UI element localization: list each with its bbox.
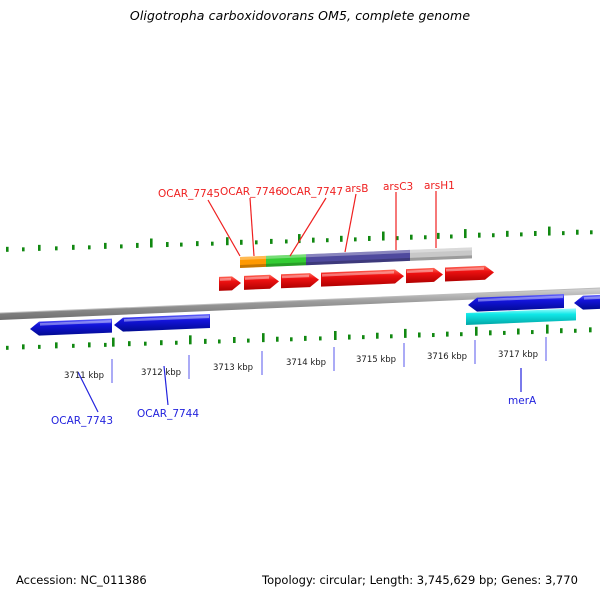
gc-bottom-tick <box>72 344 75 348</box>
gene-label-OCAR_7747[interactable]: OCAR_7747 <box>281 186 343 198</box>
gc-top-tick <box>55 246 58 250</box>
gc-bottom-tick <box>546 325 549 334</box>
gc-top-tick <box>72 245 75 250</box>
gc-top-tick <box>437 233 440 239</box>
gc-top-tick <box>464 229 467 238</box>
gc-top-tick <box>534 231 537 236</box>
gc-top-tick <box>240 240 243 245</box>
gc-bottom-tick <box>175 341 178 345</box>
gc-top-tick <box>6 247 9 252</box>
gc-bottom-tick <box>304 336 307 341</box>
leader-line-OCAR_7747 <box>290 198 326 256</box>
gc-bottom-tick <box>160 340 163 345</box>
gc-bottom-tick <box>262 333 265 342</box>
gc-top-tick <box>562 231 565 235</box>
gc-top-tick <box>368 236 371 241</box>
gc-bottom-tick <box>6 346 9 350</box>
gc-top-tick <box>410 235 413 240</box>
gc-bottom-tick <box>334 331 337 340</box>
gc-top-tick <box>548 227 551 236</box>
accession-text: Accession: NC_011386 <box>16 573 147 587</box>
coordinate-label: 3714 kbp <box>286 358 326 368</box>
gc-top-tick <box>576 230 579 235</box>
gc-top-tick <box>150 239 153 248</box>
gc-bottom-tick <box>446 332 449 337</box>
gene-label-OCAR_7744[interactable]: OCAR_7744 <box>137 408 199 420</box>
gc-top-tick <box>226 237 229 245</box>
gc-bottom-tick <box>55 342 58 348</box>
gc-tick-band-top <box>6 227 593 252</box>
coordinate-label: 3715 kbp <box>356 355 396 365</box>
gc-bottom-tick <box>233 337 236 343</box>
gc-bottom-tick <box>218 339 221 343</box>
gene-color-segments <box>240 247 472 268</box>
leader-line-OCAR_7746 <box>250 198 254 256</box>
gc-bottom-tick <box>574 329 577 333</box>
gc-bottom-tick <box>276 337 279 342</box>
gene-label-OCAR_7746[interactable]: OCAR_7746 <box>220 186 282 198</box>
gc-top-tick <box>120 244 123 248</box>
coordinate-label: 3711 kbp <box>64 371 104 381</box>
gc-top-tick <box>590 230 593 234</box>
gc-bottom-tick <box>189 335 192 344</box>
coordinate-label: 3712 kbp <box>141 368 181 378</box>
gc-top-tick <box>478 233 481 238</box>
gc-bottom-tick <box>362 335 365 339</box>
gc-bottom-tick <box>144 342 147 346</box>
leader-line-OCAR_7745 <box>208 200 240 256</box>
gc-bottom-tick <box>432 333 435 337</box>
gc-bottom-tick <box>418 332 421 337</box>
gc-top-tick <box>136 243 139 248</box>
gene-label-merA[interactable]: merA <box>508 395 536 407</box>
gc-bottom-tick <box>475 327 478 336</box>
gc-bottom-tick <box>319 336 322 340</box>
gc-bottom-tick <box>517 328 520 334</box>
gc-bottom-tick <box>38 345 41 349</box>
gc-bottom-tick <box>390 334 393 338</box>
gc-top-tick <box>211 242 214 246</box>
gc-bottom-tick <box>589 327 592 332</box>
leader-line-arsB <box>345 194 356 252</box>
gc-top-tick <box>166 242 169 247</box>
genome-stats-text: Topology: circular; Length: 3,745,629 bp… <box>262 573 578 587</box>
gc-bottom-tick <box>22 344 25 349</box>
gc-top-tick <box>520 232 523 236</box>
gc-top-tick <box>450 235 453 239</box>
gc-bottom-tick <box>290 337 293 341</box>
gc-top-tick <box>88 245 91 249</box>
gc-top-tick <box>38 245 41 251</box>
gc-bottom-tick <box>503 331 506 335</box>
gc-top-tick <box>326 238 329 242</box>
gc-top-tick <box>180 243 183 247</box>
gc-top-tick <box>492 233 495 237</box>
gc-bottom-tick <box>128 341 131 346</box>
gc-top-tick <box>382 232 385 241</box>
gc-top-tick <box>255 240 258 244</box>
gc-top-tick <box>196 241 199 246</box>
gc-top-tick <box>270 239 273 244</box>
gc-top-tick <box>354 237 357 241</box>
gene-label-arsC3[interactable]: arsC3 <box>383 181 413 193</box>
forward-strand-features <box>219 266 494 291</box>
gc-bottom-tick <box>112 338 115 347</box>
coordinate-label: 3716 kbp <box>427 352 467 362</box>
gene-label-arsH1[interactable]: arsH1 <box>424 180 455 192</box>
coordinate-label: 3717 kbp <box>498 350 538 360</box>
gc-bottom-tick <box>204 339 207 344</box>
gc-bottom-tick <box>404 329 407 338</box>
gc-bottom-tick <box>104 343 107 347</box>
genome-diagram <box>0 0 600 600</box>
gc-bottom-tick <box>247 339 250 343</box>
gc-top-tick <box>104 243 107 249</box>
gc-bottom-tick <box>489 330 492 335</box>
gc-top-tick <box>312 238 315 243</box>
gc-bottom-tick <box>460 332 463 336</box>
gc-top-tick <box>340 236 343 242</box>
gene-label-arsB[interactable]: arsB <box>345 183 368 195</box>
gc-bottom-tick <box>376 333 379 339</box>
gc-bottom-tick <box>348 335 351 340</box>
gene-label-OCAR_7745[interactable]: OCAR_7745 <box>158 188 220 200</box>
gc-top-tick <box>424 235 427 239</box>
gc-top-tick <box>22 247 25 251</box>
gc-bottom-tick <box>531 330 534 334</box>
gc-bottom-tick <box>88 342 91 347</box>
gene-label-OCAR_7743[interactable]: OCAR_7743 <box>51 415 113 427</box>
coordinate-label: 3713 kbp <box>213 363 253 373</box>
gc-bottom-tick <box>560 328 563 333</box>
genome-browser-view: Oligotropha carboxidovorans OM5, complet… <box>0 0 600 600</box>
gc-top-tick <box>285 239 288 243</box>
gc-top-tick <box>506 231 509 237</box>
